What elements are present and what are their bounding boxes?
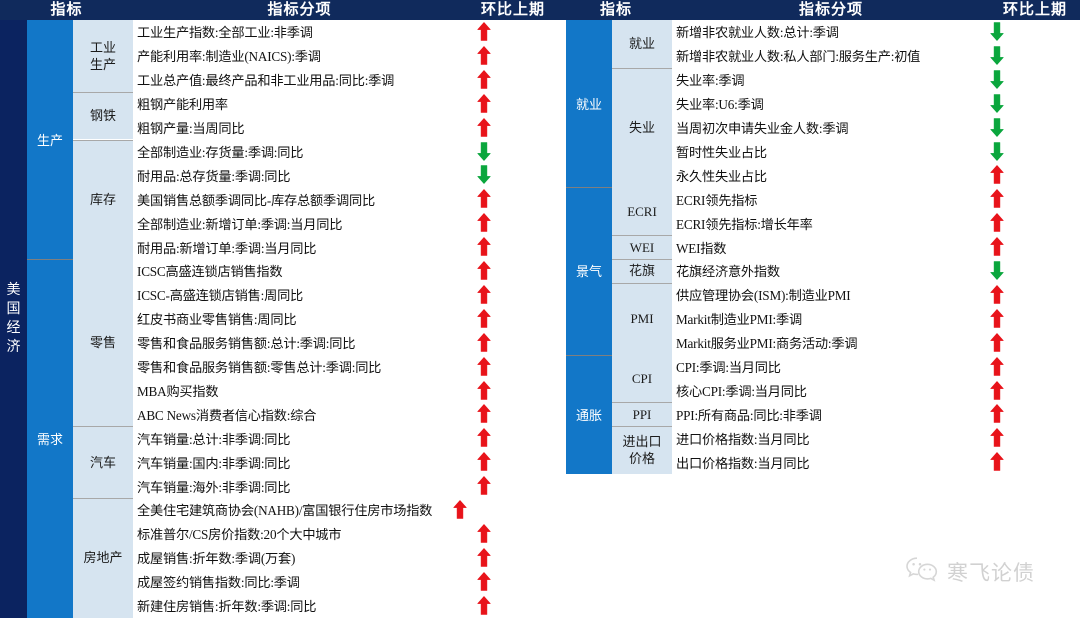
subcategory-label-line: ECRI <box>627 203 657 220</box>
indicator-label: 耐用品:总存货量:季调:同比 <box>137 163 290 187</box>
trend-up-arrow-icon <box>990 309 1004 328</box>
indicator-label: 全美住宅建筑商协会(NAHB)/富国银行住房市场指数 <box>137 498 432 522</box>
indicator-label: 工业总产值:最终产品和非工业用品:同比:季调 <box>137 68 394 92</box>
indicator-label: 成屋签约销售指数:同比:季调 <box>137 570 300 594</box>
global-category-char: 美 <box>0 281 27 300</box>
indicator-label: ICSC-高盛连锁店销售:周同比 <box>137 283 303 307</box>
left-table-panel: 美国经济生产工业生产工业生产指数:全部工业:非季调产能利用率:制造业(NAICS… <box>0 20 560 618</box>
trend-up-arrow-icon <box>990 333 1004 352</box>
header-col-0: 指标 <box>0 0 133 20</box>
indicator-label: 供应管理协会(ISM):制造业PMI <box>676 283 850 307</box>
trend-up-arrow-icon <box>990 452 1004 471</box>
trend-up-arrow-icon <box>477 428 491 447</box>
subcategory-label-line: WEI <box>630 239 655 256</box>
indicator-label: WEI指数 <box>676 235 726 259</box>
subcategory-cell: 失业 <box>612 68 672 188</box>
table-row: 零售和食品服务销售额:总计:季调:同比 <box>133 331 560 355</box>
trend-up-arrow-icon <box>477 524 491 543</box>
right-table-panel: 就业就业新增非农就业人数:总计:季调新增非农就业人数:私人部门:服务生产:初值失… <box>560 20 1080 474</box>
trend-up-arrow-icon <box>477 70 491 89</box>
indicator-label: 永久性失业占比 <box>676 163 767 187</box>
indicator-dashboard: 指标指标分项环比上期指标指标分项环比上期 美国经济生产工业生产工业生产指数:全部… <box>0 0 1080 630</box>
table-row: 新增非农就业人数:私人部门:服务生产:初值 <box>672 44 1080 68</box>
subcategory-cell: 房地产 <box>73 498 133 618</box>
table-row: 成屋签约销售指数:同比:季调 <box>133 570 560 594</box>
subcategory-label-line: 失业 <box>629 119 655 136</box>
global-category-char: 国 <box>0 300 27 319</box>
indicator-label: 汽车销量:国内:非季调:同比 <box>137 450 290 474</box>
table-row: 红皮书商业零售销售:周同比 <box>133 307 560 331</box>
subcategory-label-line: CPI <box>632 370 652 387</box>
trend-up-arrow-icon <box>477 309 491 328</box>
table-row: 工业生产指数:全部工业:非季调 <box>133 20 560 44</box>
trend-up-arrow-icon <box>477 333 491 352</box>
trend-up-arrow-icon <box>477 476 491 495</box>
indicator-label: 出口价格指数:当月同比 <box>676 450 809 474</box>
table-row: ECRI领先指标 <box>672 187 1080 211</box>
indicator-label: ICSC高盛连锁店销售指数 <box>137 259 282 283</box>
trend-up-arrow-icon <box>990 213 1004 232</box>
table-row: 粗钢产能利用率 <box>133 92 560 116</box>
indicator-label: 粗钢产能利用率 <box>137 92 228 116</box>
subcategory-cell: ECRI <box>612 187 672 235</box>
subcategory-label-line: 进出口 <box>622 433 661 450</box>
indicator-label: PPI:所有商品:同比:非季调 <box>676 402 822 426</box>
trend-down-arrow-icon <box>990 46 1004 65</box>
trend-up-arrow-icon <box>477 261 491 280</box>
table-row: 全美住宅建筑商协会(NAHB)/富国银行住房市场指数 <box>133 498 560 522</box>
subcategory-label-line: 零售 <box>90 334 116 351</box>
header-col-1: 指标分项 <box>133 0 466 20</box>
table-row: 汽车销量:国内:非季调:同比 <box>133 450 560 474</box>
trend-up-arrow-icon <box>477 46 491 65</box>
table-row: PPI:所有商品:同比:非季调 <box>672 402 1080 426</box>
global-category-label: 美国经济 <box>0 20 27 618</box>
subcategory-cell: WEI <box>612 235 672 259</box>
indicator-label: 粗钢产量:当周同比 <box>137 116 244 140</box>
category-cell: 就业 <box>566 20 612 187</box>
table-row: 耐用品:总存货量:季调:同比 <box>133 163 560 187</box>
trend-up-arrow-icon <box>477 381 491 400</box>
indicator-label: 标准普尔/CS房价指数:20个大中城市 <box>137 522 341 546</box>
indicator-label: 进口价格指数:当月同比 <box>676 426 809 450</box>
trend-up-arrow-icon <box>453 500 467 519</box>
subcategory-cell: 钢铁 <box>73 92 133 140</box>
subcategory-cell: PMI <box>612 283 672 355</box>
table-row: 永久性失业占比 <box>672 163 1080 187</box>
indicator-label: 当周初次申请失业金人数:季调 <box>676 116 848 140</box>
subcategory-cell: 进出口价格 <box>612 426 672 474</box>
subcategory-label-line: PMI <box>630 310 653 327</box>
trend-up-arrow-icon <box>477 22 491 41</box>
subcategory-label-line: 价格 <box>629 450 655 467</box>
table-row: Markit制造业PMI:季调 <box>672 307 1080 331</box>
subcategory-label-line: 汽车 <box>90 454 116 471</box>
table-row: 全部制造业:新增订单:季调:当月同比 <box>133 211 560 235</box>
indicator-label: 全部制造业:新增订单:季调:当月同比 <box>137 211 342 235</box>
indicator-label: 花旗经济意外指数 <box>676 259 780 283</box>
indicator-label: 失业率:季调 <box>676 68 744 92</box>
table-row: 核心CPI:季调:当月同比 <box>672 379 1080 403</box>
indicator-label: 全部制造业:存货量:季调:同比 <box>137 140 303 164</box>
indicator-label: ABC News消费者信心指数:综合 <box>137 402 316 426</box>
category-cell: 通胀 <box>566 355 612 475</box>
trend-up-arrow-icon <box>990 189 1004 208</box>
indicator-label: ECRI领先指标:增长年率 <box>676 211 813 235</box>
table-row: 汽车销量:总计:非季调:同比 <box>133 426 560 450</box>
subcategory-label-line: 房地产 <box>83 549 122 566</box>
trend-up-arrow-icon <box>477 94 491 113</box>
subcategory-label-line: 库存 <box>90 191 116 208</box>
table-row: 全部制造业:存货量:季调:同比 <box>133 140 560 164</box>
trend-up-arrow-icon <box>477 596 491 615</box>
subcategory-label-line: PPI <box>633 406 652 423</box>
subcategory-cell: 库存 <box>73 140 133 260</box>
category-cell: 景气 <box>566 187 612 354</box>
trend-up-arrow-icon <box>990 428 1004 447</box>
table-row: MBA购买指数 <box>133 379 560 403</box>
table-row: 进口价格指数:当月同比 <box>672 426 1080 450</box>
trend-down-arrow-icon <box>990 22 1004 41</box>
subcategory-cell: 工业生产 <box>73 20 133 92</box>
trend-up-arrow-icon <box>990 285 1004 304</box>
table-row: 出口价格指数:当月同比 <box>672 450 1080 474</box>
trend-up-arrow-icon <box>990 404 1004 423</box>
trend-up-arrow-icon <box>990 237 1004 256</box>
indicator-label: CPI:季调:当月同比 <box>676 355 781 379</box>
indicator-label: 汽车销量:总计:非季调:同比 <box>137 426 290 450</box>
table-row: ICSC高盛连锁店销售指数 <box>133 259 560 283</box>
table-row: 当周初次申请失业金人数:季调 <box>672 116 1080 140</box>
table-row: 零售和食品服务销售额:零售总计:季调:同比 <box>133 355 560 379</box>
trend-up-arrow-icon <box>477 213 491 232</box>
indicator-label: 美国销售总额季调同比-库存总额季调同比 <box>137 187 375 211</box>
subcategory-cell: 零售 <box>73 259 133 426</box>
table-row: 成屋销售:折年数:季调(万套) <box>133 546 560 570</box>
table-row: ABC News消费者信心指数:综合 <box>133 402 560 426</box>
indicator-label: 新增非农就业人数:私人部门:服务生产:初值 <box>676 44 920 68</box>
trend-up-arrow-icon <box>990 357 1004 376</box>
indicator-label: 成屋销售:折年数:季调(万套) <box>137 546 295 570</box>
indicator-label: 红皮书商业零售销售:周同比 <box>137 307 296 331</box>
category-cell: 生产 <box>27 20 73 259</box>
subcategory-label-line: 工业 <box>90 39 116 56</box>
global-category-char: 济 <box>0 338 27 357</box>
trend-up-arrow-icon <box>477 452 491 471</box>
trend-up-arrow-icon <box>990 165 1004 184</box>
trend-up-arrow-icon <box>990 381 1004 400</box>
header-col-2: 环比上期 <box>466 0 560 20</box>
table-row: 供应管理协会(ISM):制造业PMI <box>672 283 1080 307</box>
indicator-label: 工业生产指数:全部工业:非季调 <box>137 20 313 44</box>
trend-down-arrow-icon <box>990 70 1004 89</box>
indicator-label: 暂时性失业占比 <box>676 140 767 164</box>
trend-up-arrow-icon <box>477 404 491 423</box>
trend-up-arrow-icon <box>477 189 491 208</box>
subcategory-label-line: 花旗 <box>629 262 655 279</box>
trend-up-arrow-icon <box>477 285 491 304</box>
table-row: 汽车销量:海外:非季调:同比 <box>133 474 560 498</box>
table-row: ICSC-高盛连锁店销售:周同比 <box>133 283 560 307</box>
header-col-3: 指标 <box>560 0 672 20</box>
indicator-label: Markit制造业PMI:季调 <box>676 307 802 331</box>
indicator-label: 新建住房销售:折年数:季调:同比 <box>137 594 316 618</box>
indicator-label: 新增非农就业人数:总计:季调 <box>676 20 839 44</box>
table-row: 新增非农就业人数:总计:季调 <box>672 20 1080 44</box>
trend-down-arrow-icon <box>990 261 1004 280</box>
trend-down-arrow-icon <box>990 94 1004 113</box>
table-row: 标准普尔/CS房价指数:20个大中城市 <box>133 522 560 546</box>
table-row: 耐用品:新增订单:季调:当月同比 <box>133 235 560 259</box>
table-row: WEI指数 <box>672 235 1080 259</box>
trend-up-arrow-icon <box>477 357 491 376</box>
table-row: 花旗经济意外指数 <box>672 259 1080 283</box>
subcategory-label-line: 就业 <box>629 35 655 52</box>
subcategory-label-line: 生产 <box>90 56 116 73</box>
subcategory-cell: 花旗 <box>612 259 672 283</box>
indicator-label: 零售和食品服务销售额:总计:季调:同比 <box>137 331 355 355</box>
table-row: CPI:季调:当月同比 <box>672 355 1080 379</box>
trend-up-arrow-icon <box>477 572 491 591</box>
table-row: 粗钢产量:当周同比 <box>133 116 560 140</box>
wechat-icon <box>905 556 939 587</box>
watermark: 寒飞论债 <box>905 556 1035 587</box>
subcategory-cell: PPI <box>612 402 672 426</box>
subcategory-cell: 就业 <box>612 20 672 68</box>
indicator-label: 耐用品:新增订单:季调:当月同比 <box>137 235 316 259</box>
indicator-label: 失业率:U6:季调 <box>676 92 764 116</box>
global-category-char: 经 <box>0 319 27 338</box>
table-row: 失业率:U6:季调 <box>672 92 1080 116</box>
trend-down-arrow-icon <box>477 142 491 161</box>
trend-down-arrow-icon <box>990 118 1004 137</box>
category-cell: 需求 <box>27 259 73 618</box>
indicator-label: Markit服务业PMI:商务活动:季调 <box>676 331 857 355</box>
trend-up-arrow-icon <box>477 548 491 567</box>
trend-down-arrow-icon <box>477 165 491 184</box>
table-row: 暂时性失业占比 <box>672 140 1080 164</box>
trend-down-arrow-icon <box>990 142 1004 161</box>
indicator-label: MBA购买指数 <box>137 379 218 403</box>
watermark-text: 寒飞论债 <box>947 557 1035 587</box>
indicator-label: 汽车销量:海外:非季调:同比 <box>137 474 290 498</box>
table-row: 产能利用率:制造业(NAICS):季调 <box>133 44 560 68</box>
subcategory-cell: 汽车 <box>73 426 133 498</box>
table-row: ECRI领先指标:增长年率 <box>672 211 1080 235</box>
header-col-4: 指标分项 <box>672 0 990 20</box>
indicator-label: 核心CPI:季调:当月同比 <box>676 379 807 403</box>
table-row: 新建住房销售:折年数:季调:同比 <box>133 594 560 618</box>
trend-up-arrow-icon <box>477 237 491 256</box>
indicator-label: 产能利用率:制造业(NAICS):季调 <box>137 44 321 68</box>
table-row: 美国销售总额季调同比-库存总额季调同比 <box>133 187 560 211</box>
subcategory-label-line: 钢铁 <box>90 107 116 124</box>
trend-up-arrow-icon <box>477 118 491 137</box>
indicator-label: ECRI领先指标 <box>676 187 757 211</box>
indicator-label: 零售和食品服务销售额:零售总计:季调:同比 <box>137 355 381 379</box>
table-row: Markit服务业PMI:商务活动:季调 <box>672 331 1080 355</box>
subcategory-cell: CPI <box>612 355 672 403</box>
table-row: 工业总产值:最终产品和非工业用品:同比:季调 <box>133 68 560 92</box>
table-row: 失业率:季调 <box>672 68 1080 92</box>
header-col-5: 环比上期 <box>990 0 1080 20</box>
